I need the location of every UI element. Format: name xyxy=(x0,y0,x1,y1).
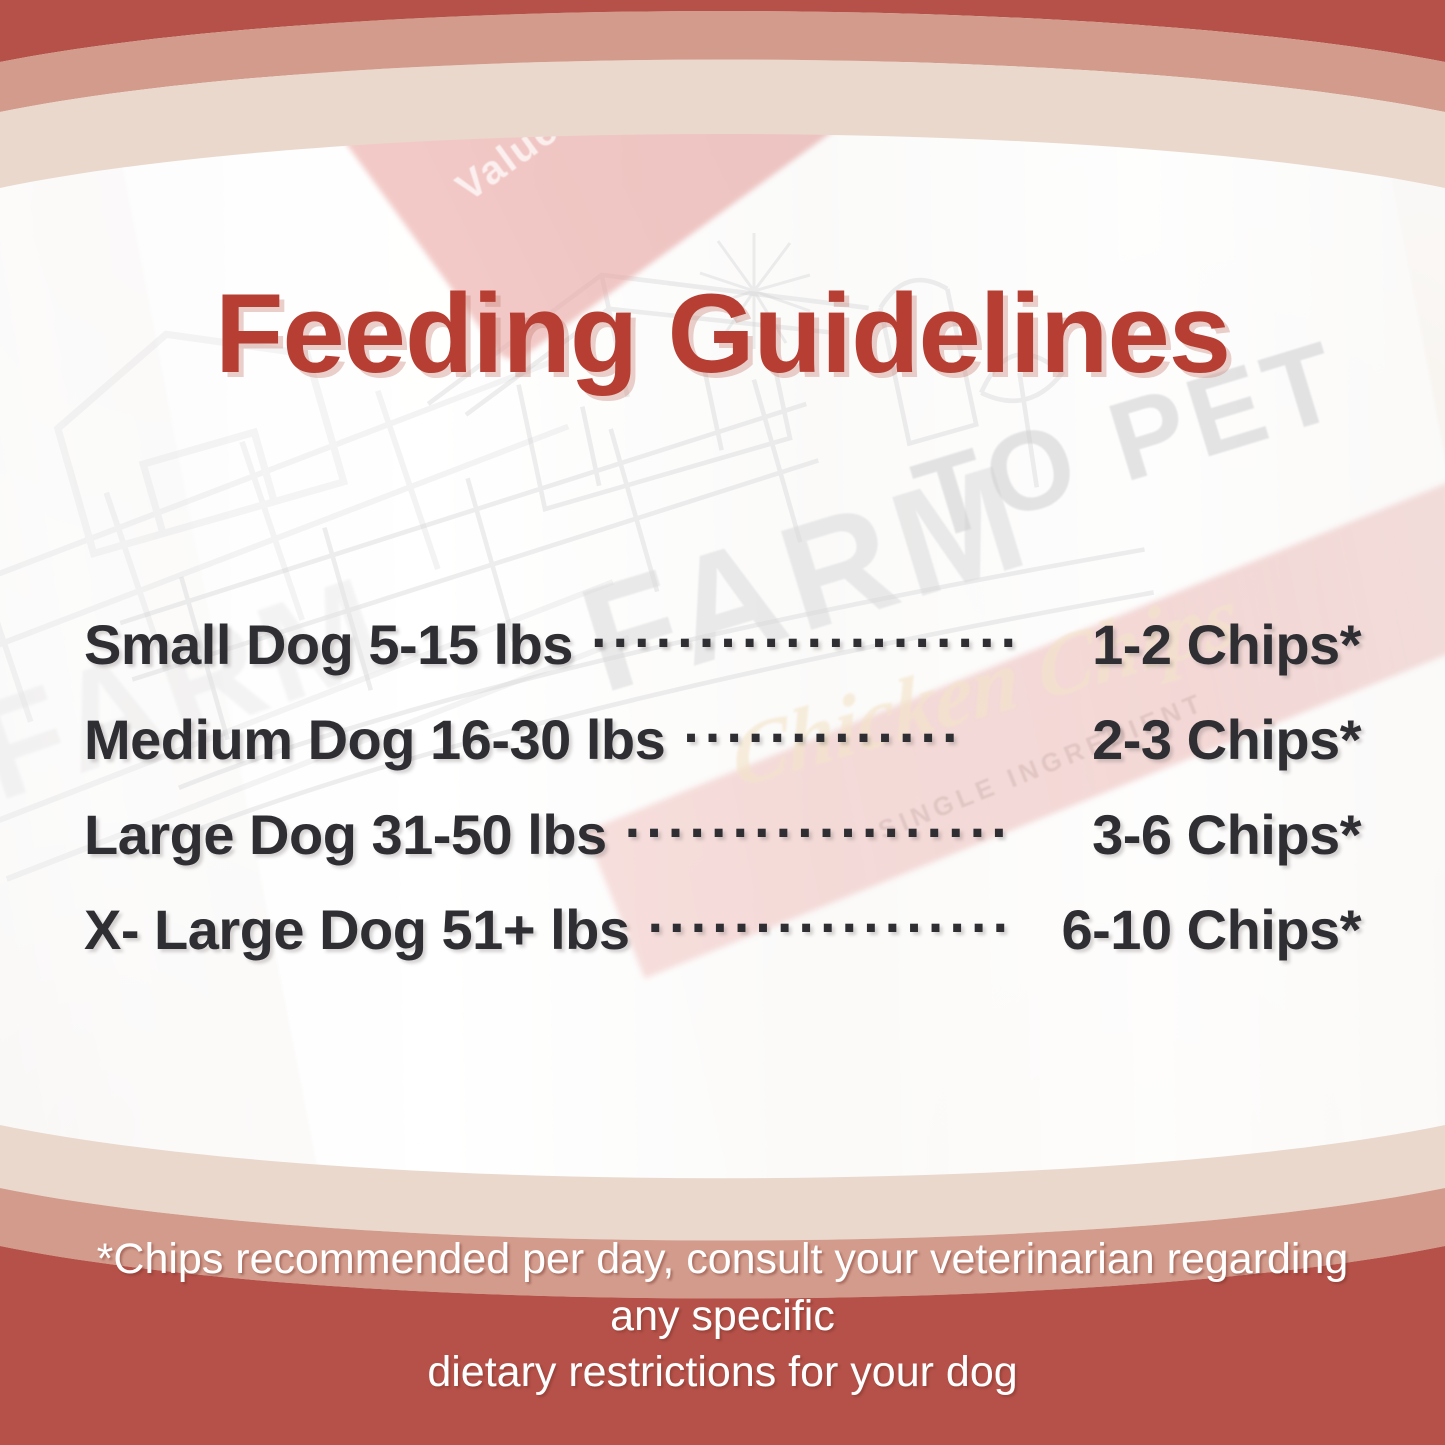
dog-size-label: X- Large Dog 51+ lbs xyxy=(84,897,630,962)
leader-dots-text: .................. xyxy=(625,790,1074,846)
page-title: Feeding Guidelines xyxy=(0,278,1445,390)
chips-amount-value: 3-6 Chips* xyxy=(1092,802,1361,867)
footnote-line-2: dietary restrictions for your dog xyxy=(60,1344,1385,1401)
leader-dots: ............. xyxy=(683,703,1074,759)
chips-amount-value: 6-10 Chips* xyxy=(1062,897,1362,962)
leader-dots-text: ............. xyxy=(683,695,1074,751)
dog-size-label: Large Dog 31-50 lbs xyxy=(84,802,607,867)
poster-content: Feeding Guidelines Small Dog 5-15 lbs ..… xyxy=(0,0,1445,1445)
feeding-guidelines-list: Small Dog 5-15 lbs .................... … xyxy=(84,608,1361,988)
guideline-row: Large Dog 31-50 lbs .................. 3… xyxy=(84,798,1361,893)
footnote-line-1: *Chips recommended per day, consult your… xyxy=(60,1231,1385,1345)
dog-size-label: Small Dog 5-15 lbs xyxy=(84,612,573,677)
guideline-row: Small Dog 5-15 lbs .................... … xyxy=(84,608,1361,703)
leader-dots: .................. xyxy=(625,798,1074,854)
feeding-guidelines-poster: SINGLE INGREDIENT FARM FARM TO PET Chick… xyxy=(0,0,1445,1445)
leader-dots-text: ................. xyxy=(648,885,1044,941)
chips-amount-value: 2-3 Chips* xyxy=(1092,707,1361,772)
footnote: *Chips recommended per day, consult your… xyxy=(60,1231,1385,1401)
leader-dots-text: .................... xyxy=(591,600,1074,656)
guideline-row: X- Large Dog 51+ lbs ................. 6… xyxy=(84,893,1361,988)
chips-amount-value: 1-2 Chips* xyxy=(1092,612,1361,677)
dog-size-label: Medium Dog 16-30 lbs xyxy=(84,707,665,772)
leader-dots: ................. xyxy=(648,893,1044,949)
guideline-row: Medium Dog 16-30 lbs ............. 2-3 C… xyxy=(84,703,1361,798)
leader-dots: .................... xyxy=(591,608,1074,664)
